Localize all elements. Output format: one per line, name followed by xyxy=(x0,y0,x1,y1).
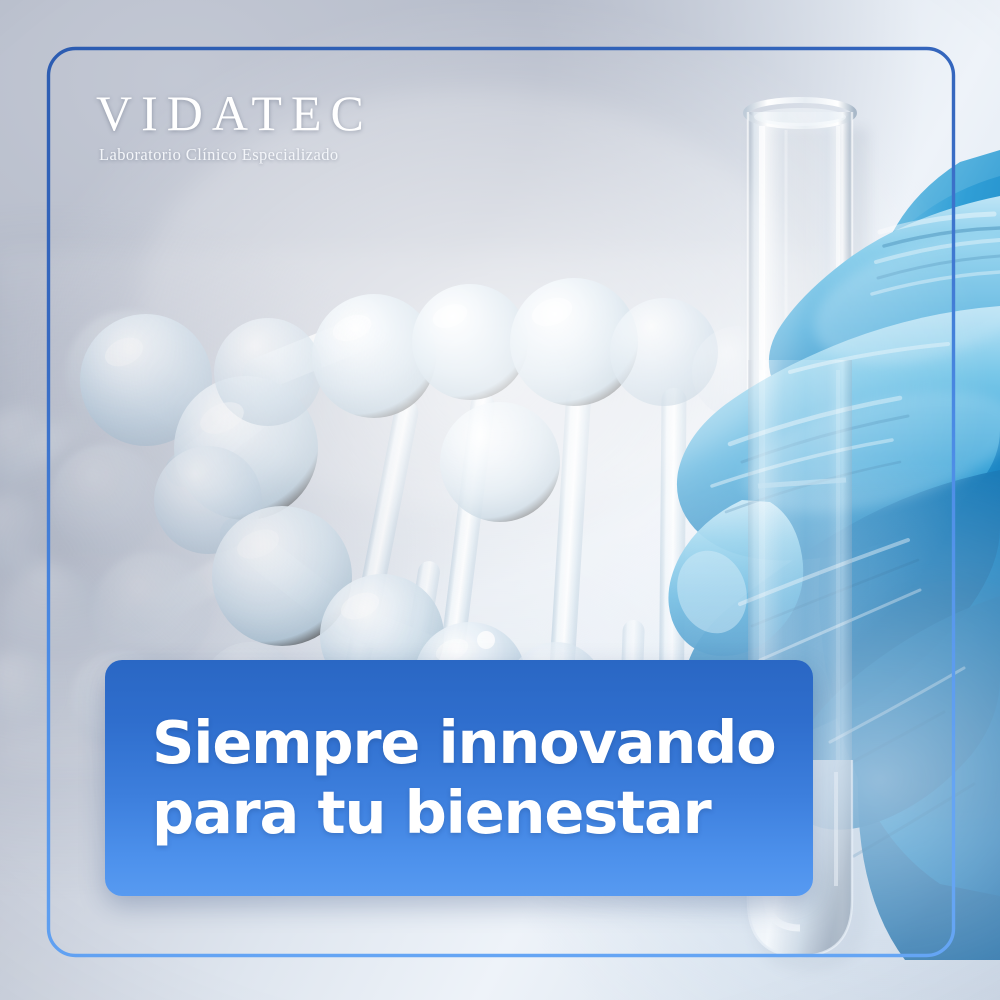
headline-line-2: para tu bienestar xyxy=(152,781,813,845)
logo-wordmark: VIDATEC xyxy=(96,88,373,138)
post-canvas: VIDATEC Laboratorio Clínico Especializad… xyxy=(0,0,1000,1000)
headline-line-1: Siempre innovando xyxy=(152,711,813,775)
headline-banner: Siempre innovando para tu bienestar xyxy=(105,660,813,896)
logo-tagline: Laboratorio Clínico Especializado xyxy=(99,147,373,164)
brand-logo: VIDATEC Laboratorio Clínico Especializad… xyxy=(96,88,373,164)
